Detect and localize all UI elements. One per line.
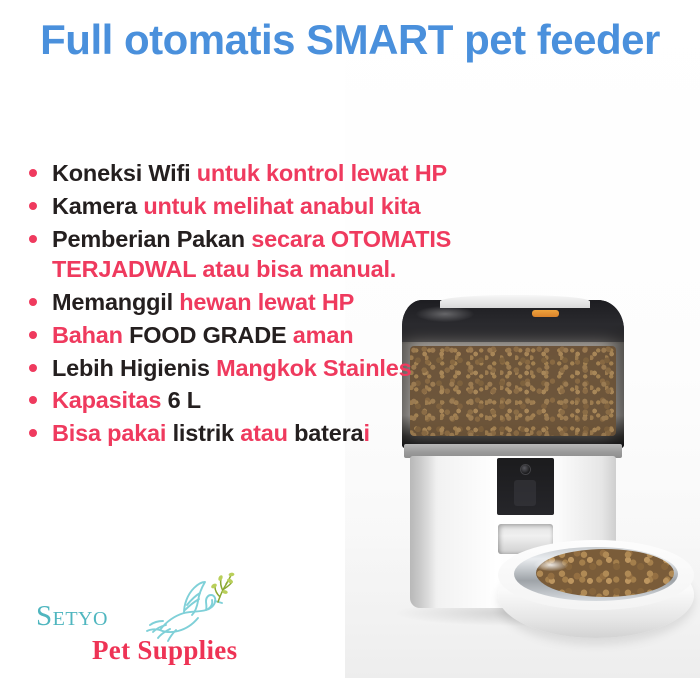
feature-text-segment: Koneksi Wifi — [52, 160, 197, 186]
bowl-highlight — [534, 559, 568, 571]
feature-item-call-pet: Memanggil hewan lewat HP — [22, 287, 562, 318]
camera-lens-icon — [521, 465, 530, 474]
bullet-dot-icon — [29, 396, 37, 404]
brand-tagline: Pet Supplies — [92, 635, 237, 666]
feature-list: Koneksi Wifi untuk kontrol lewat HPKamer… — [22, 158, 562, 451]
feature-text-segment: 6 L — [168, 387, 201, 413]
feature-text-segment: listrik — [173, 420, 241, 446]
feature-text-segment: Pemberian Pakan — [52, 226, 251, 252]
feature-item-camera: Kamera untuk melihat anabul kita — [22, 191, 562, 222]
bullet-dot-icon — [29, 298, 37, 306]
feature-item-power-source: Bisa pakai listrik atau baterai — [22, 418, 562, 449]
feature-item-capacity: Kapasitas 6 L — [22, 385, 562, 416]
feature-text-segment: atau — [240, 420, 294, 446]
feature-item-food-grade: Bahan FOOD GRADE aman — [22, 320, 562, 351]
camera-sensor-plate — [514, 480, 536, 506]
feature-text-segment: batera — [294, 420, 363, 446]
feature-text-segment: Bisa pakai — [52, 420, 173, 446]
bullet-dot-icon — [29, 235, 37, 243]
feature-text-segment: Bahan — [52, 322, 129, 348]
feature-text-segment: i — [363, 420, 369, 446]
body-side-shading — [410, 456, 436, 608]
feature-text-segment: untuk kontrol lewat HP — [197, 160, 447, 186]
poster-canvas: Full otomatis SMART pet feeder Koneksi W… — [0, 0, 700, 700]
page-title: Full otomatis SMART pet feeder — [18, 16, 682, 63]
feature-item-hygienic-bowl: Lebih Higienis Mangkok Stainles — [22, 353, 562, 384]
bullet-dot-icon — [29, 429, 37, 437]
feature-text-segment: untuk melihat anabul kita — [143, 193, 420, 219]
bullet-dot-icon — [29, 364, 37, 372]
brand-name: Setyo — [36, 600, 108, 633]
stainless-steel-bowl — [498, 540, 694, 648]
feature-text-segment: FOOD GRADE — [129, 322, 293, 348]
bullet-dot-icon — [29, 331, 37, 339]
feature-text-segment: Memanggil — [52, 289, 179, 315]
brand-logo: Setyo — [36, 578, 306, 668]
bowl-kibble — [536, 549, 674, 597]
feature-item-wifi: Koneksi Wifi untuk kontrol lewat HP — [22, 158, 562, 189]
feature-text-segment: aman — [293, 322, 354, 348]
bowl-stainless-insert — [514, 547, 678, 601]
feature-text-segment: Mangkok Stainles — [216, 355, 411, 381]
feature-text-segment: Kamera — [52, 193, 143, 219]
bullet-dot-icon — [29, 169, 37, 177]
feature-text-segment: Kapasitas — [52, 387, 168, 413]
feature-text-segment: hewan lewat HP — [179, 289, 354, 315]
feature-text-segment: Lebih Higienis — [52, 355, 216, 381]
feature-item-feeding-schedule: Pemberian Pakan secara OTOMATIS TERJADWA… — [22, 224, 562, 286]
front-camera-module — [497, 458, 554, 515]
bullet-dot-icon — [29, 202, 37, 210]
